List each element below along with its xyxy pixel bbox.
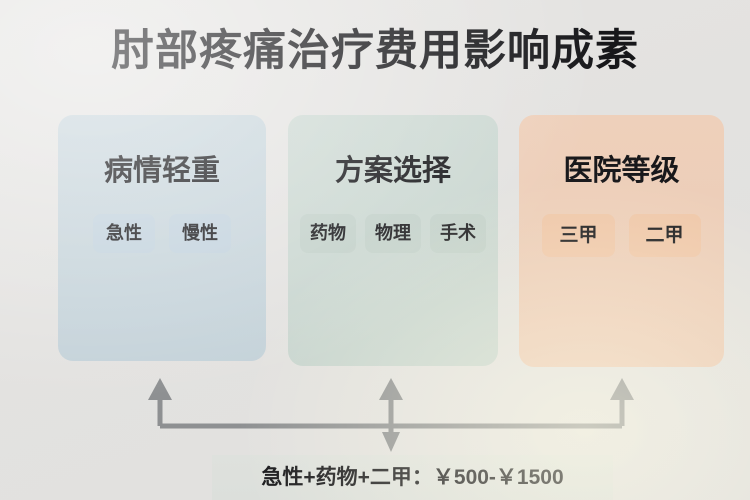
factor-tag[interactable]: 三甲 (542, 214, 614, 257)
factor-card-heading: 方案选择 (288, 153, 498, 189)
factor-card-hospital-grade[interactable]: 医院等级 三甲 二甲 (519, 115, 724, 367)
factor-tag[interactable]: 慢性 (169, 214, 231, 253)
factor-tag[interactable]: 手术 (430, 214, 486, 253)
factor-card-severity[interactable]: 病情轻重 急性 慢性 (58, 115, 266, 361)
factor-tag[interactable]: 急性 (93, 214, 155, 253)
infographic-canvas: 肘部疼痛治疗费用影响成素 病情轻重 急性 慢性 方案选择 药物 物理 手术 医院… (0, 0, 750, 500)
factor-tag[interactable]: 药物 (300, 214, 356, 253)
factor-tag[interactable]: 二甲 (629, 214, 701, 257)
factor-tag-row: 急性 慢性 (58, 214, 266, 253)
factor-card-heading: 医院等级 (519, 153, 724, 189)
factor-card-heading: 病情轻重 (58, 153, 266, 189)
factor-tag-row: 药物 物理 手术 (288, 214, 498, 253)
summary-text: 急性+药物+二甲：￥500-￥1500 (212, 455, 613, 500)
page-title: 肘部疼痛治疗费用影响成素 (0, 25, 750, 77)
factor-tag-row: 三甲 二甲 (519, 214, 724, 257)
factor-tag[interactable]: 物理 (365, 214, 421, 253)
flow-connector (130, 372, 640, 454)
factor-card-treatment-plan[interactable]: 方案选择 药物 物理 手术 (288, 115, 498, 366)
